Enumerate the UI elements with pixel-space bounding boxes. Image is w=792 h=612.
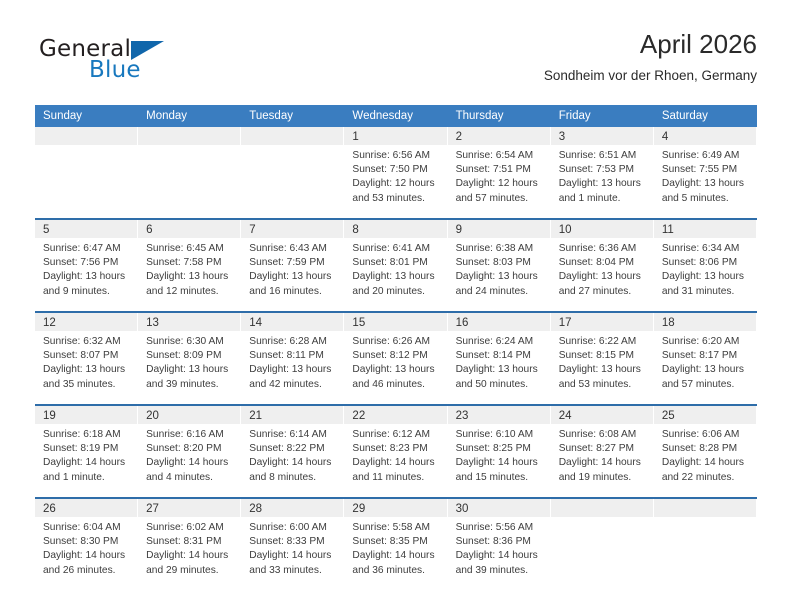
daylight-text-line1: Daylight: 13 hours: [352, 363, 440, 377]
weekday-header-tuesday: Tuesday: [241, 105, 344, 127]
day-number-band: 24: [551, 406, 653, 424]
day-number-band: 28: [241, 499, 343, 517]
sunrise-text: Sunrise: 6:45 AM: [146, 242, 234, 256]
calendar-grid: Sunday Monday Tuesday Wednesday Thursday…: [35, 105, 757, 590]
daylight-text-line2: and 50 minutes.: [456, 378, 544, 392]
day-sun-info: Sunrise: 6:14 AMSunset: 8:22 PMDaylight:…: [241, 424, 343, 485]
sunrise-text: Sunrise: 6:43 AM: [249, 242, 337, 256]
daylight-text-line2: and 20 minutes.: [352, 285, 440, 299]
day-sun-info: Sunrise: 6:04 AMSunset: 8:30 PMDaylight:…: [35, 517, 137, 578]
daylight-text-line2: and 36 minutes.: [352, 564, 440, 578]
day-sun-info: Sunrise: 6:08 AMSunset: 8:27 PMDaylight:…: [551, 424, 653, 485]
day-number-band: 23: [448, 406, 550, 424]
calendar-day-cell[interactable]: 27Sunrise: 6:02 AMSunset: 8:31 PMDayligh…: [138, 499, 241, 590]
sunrise-text: Sunrise: 6:56 AM: [352, 149, 440, 163]
day-number: 4: [662, 131, 668, 143]
daylight-text-line2: and 57 minutes.: [662, 378, 750, 392]
daylight-text-line1: Daylight: 12 hours: [456, 177, 544, 191]
day-sun-info: Sunrise: 6:28 AMSunset: 8:11 PMDaylight:…: [241, 331, 343, 392]
sunrise-text: Sunrise: 6:10 AM: [456, 428, 544, 442]
day-number-band: 1: [344, 127, 446, 145]
daylight-text-line1: Daylight: 12 hours: [352, 177, 440, 191]
sunset-text: Sunset: 8:33 PM: [249, 535, 337, 549]
day-number-band: 15: [344, 313, 446, 331]
sunrise-text: Sunrise: 6:04 AM: [43, 521, 131, 535]
day-sun-info: Sunrise: 6:56 AMSunset: 7:50 PMDaylight:…: [344, 145, 446, 206]
daylight-text-line2: and 39 minutes.: [456, 564, 544, 578]
daylight-text-line2: and 57 minutes.: [456, 192, 544, 206]
sunrise-text: Sunrise: 5:58 AM: [352, 521, 440, 535]
calendar-day-cell[interactable]: 2Sunrise: 6:54 AMSunset: 7:51 PMDaylight…: [448, 127, 551, 218]
day-sun-info: Sunrise: 6:24 AMSunset: 8:14 PMDaylight:…: [448, 331, 550, 392]
sunset-text: Sunset: 8:35 PM: [352, 535, 440, 549]
daylight-text-line1: Daylight: 14 hours: [249, 456, 337, 470]
daylight-text-line2: and 22 minutes.: [662, 471, 750, 485]
day-number: 17: [559, 317, 572, 329]
daylight-text-line2: and 33 minutes.: [249, 564, 337, 578]
day-number: 12: [43, 317, 56, 329]
day-sun-info: Sunrise: 6:43 AMSunset: 7:59 PMDaylight:…: [241, 238, 343, 299]
calendar-week-row: 19Sunrise: 6:18 AMSunset: 8:19 PMDayligh…: [35, 406, 757, 499]
day-sun-info: Sunrise: 6:47 AMSunset: 7:56 PMDaylight:…: [35, 238, 137, 299]
day-number: 30: [456, 503, 469, 515]
weekday-header-row: Sunday Monday Tuesday Wednesday Thursday…: [35, 105, 757, 127]
day-sun-info: Sunrise: 6:30 AMSunset: 8:09 PMDaylight:…: [138, 331, 240, 392]
logo-text-blue: Blue: [89, 57, 141, 83]
day-sun-info: Sunrise: 6:51 AMSunset: 7:53 PMDaylight:…: [551, 145, 653, 206]
sunset-text: Sunset: 8:12 PM: [352, 349, 440, 363]
daylight-text-line2: and 16 minutes.: [249, 285, 337, 299]
calendar-day-cell[interactable]: 18Sunrise: 6:20 AMSunset: 8:17 PMDayligh…: [654, 313, 757, 404]
calendar-day-cell-empty: [241, 127, 344, 218]
calendar-day-cell-empty: [654, 499, 757, 590]
day-number-band: 9: [448, 220, 550, 238]
sunset-text: Sunset: 7:51 PM: [456, 163, 544, 177]
sunset-text: Sunset: 7:53 PM: [559, 163, 647, 177]
calendar-week-row: 5Sunrise: 6:47 AMSunset: 7:56 PMDaylight…: [35, 220, 757, 313]
calendar-week-row: 26Sunrise: 6:04 AMSunset: 8:30 PMDayligh…: [35, 499, 757, 590]
sunrise-text: Sunrise: 6:22 AM: [559, 335, 647, 349]
daylight-text-line1: Daylight: 13 hours: [146, 270, 234, 284]
day-number-band: 20: [138, 406, 240, 424]
title-block: April 2026 Sondheim vor der Rhoen, Germa…: [544, 28, 757, 84]
day-sun-info: Sunrise: 6:10 AMSunset: 8:25 PMDaylight:…: [448, 424, 550, 485]
sunset-text: Sunset: 8:27 PM: [559, 442, 647, 456]
day-number: 2: [456, 131, 462, 143]
daylight-text-line1: Daylight: 14 hours: [43, 456, 131, 470]
sunset-text: Sunset: 8:06 PM: [662, 256, 750, 270]
sunset-text: Sunset: 7:59 PM: [249, 256, 337, 270]
sunrise-text: Sunrise: 6:51 AM: [559, 149, 647, 163]
sunset-text: Sunset: 8:28 PM: [662, 442, 750, 456]
sunrise-text: Sunrise: 6:38 AM: [456, 242, 544, 256]
daylight-text-line1: Daylight: 13 hours: [43, 270, 131, 284]
daylight-text-line2: and 42 minutes.: [249, 378, 337, 392]
day-number-band: [654, 499, 756, 517]
calendar-day-cell[interactable]: 12Sunrise: 6:32 AMSunset: 8:07 PMDayligh…: [35, 313, 138, 404]
day-number-band: 12: [35, 313, 137, 331]
day-number: 10: [559, 224, 572, 236]
day-number-band: 25: [654, 406, 756, 424]
daylight-text-line2: and 4 minutes.: [146, 471, 234, 485]
daylight-text-line1: Daylight: 13 hours: [559, 363, 647, 377]
sunrise-text: Sunrise: 6:34 AM: [662, 242, 750, 256]
daylight-text-line2: and 53 minutes.: [559, 378, 647, 392]
sunset-text: Sunset: 7:50 PM: [352, 163, 440, 177]
day-number-band: 3: [551, 127, 653, 145]
day-number: 15: [352, 317, 365, 329]
calendar-week-row: 1Sunrise: 6:56 AMSunset: 7:50 PMDaylight…: [35, 127, 757, 220]
day-number: 7: [249, 224, 255, 236]
weekday-header-saturday: Saturday: [654, 105, 757, 127]
sunset-text: Sunset: 7:56 PM: [43, 256, 131, 270]
sunrise-text: Sunrise: 6:08 AM: [559, 428, 647, 442]
calendar-day-cell[interactable]: 28Sunrise: 6:00 AMSunset: 8:33 PMDayligh…: [241, 499, 344, 590]
daylight-text-line2: and 27 minutes.: [559, 285, 647, 299]
day-sun-info: Sunrise: 6:49 AMSunset: 7:55 PMDaylight:…: [654, 145, 756, 206]
daylight-text-line2: and 26 minutes.: [43, 564, 131, 578]
daylight-text-line2: and 8 minutes.: [249, 471, 337, 485]
day-number: 9: [456, 224, 462, 236]
sunset-text: Sunset: 7:55 PM: [662, 163, 750, 177]
day-sun-info: Sunrise: 6:32 AMSunset: 8:07 PMDaylight:…: [35, 331, 137, 392]
daylight-text-line2: and 31 minutes.: [662, 285, 750, 299]
day-number-band: 10: [551, 220, 653, 238]
day-number: 19: [43, 410, 56, 422]
sunrise-text: Sunrise: 6:30 AM: [146, 335, 234, 349]
day-sun-info: Sunrise: 6:12 AMSunset: 8:23 PMDaylight:…: [344, 424, 446, 485]
day-sun-info: Sunrise: 5:58 AMSunset: 8:35 PMDaylight:…: [344, 517, 446, 578]
calendar-day-cell[interactable]: 7Sunrise: 6:43 AMSunset: 7:59 PMDaylight…: [241, 220, 344, 311]
sunrise-text: Sunrise: 5:56 AM: [456, 521, 544, 535]
calendar-day-cell[interactable]: 30Sunrise: 5:56 AMSunset: 8:36 PMDayligh…: [448, 499, 551, 590]
calendar-day-cell[interactable]: 24Sunrise: 6:08 AMSunset: 8:27 PMDayligh…: [551, 406, 654, 497]
daylight-text-line1: Daylight: 13 hours: [249, 363, 337, 377]
sunset-text: Sunset: 8:15 PM: [559, 349, 647, 363]
general-blue-logo[interactable]: General Blue: [35, 28, 245, 90]
day-number-band: [35, 127, 137, 145]
calendar-day-cell[interactable]: 20Sunrise: 6:16 AMSunset: 8:20 PMDayligh…: [138, 406, 241, 497]
day-number-band: [138, 127, 240, 145]
daylight-text-line2: and 46 minutes.: [352, 378, 440, 392]
page-header: General Blue April 2026 Sondheim vor der…: [35, 28, 757, 98]
day-number: 28: [249, 503, 262, 515]
daylight-text-line2: and 15 minutes.: [456, 471, 544, 485]
sunrise-text: Sunrise: 6:00 AM: [249, 521, 337, 535]
day-sun-info: Sunrise: 6:02 AMSunset: 8:31 PMDaylight:…: [138, 517, 240, 578]
day-number: 29: [352, 503, 365, 515]
sunrise-text: Sunrise: 6:20 AM: [662, 335, 750, 349]
calendar-day-cell[interactable]: 29Sunrise: 5:58 AMSunset: 8:35 PMDayligh…: [344, 499, 447, 590]
calendar-day-cell[interactable]: 23Sunrise: 6:10 AMSunset: 8:25 PMDayligh…: [448, 406, 551, 497]
day-number-band: 6: [138, 220, 240, 238]
day-sun-info: Sunrise: 6:26 AMSunset: 8:12 PMDaylight:…: [344, 331, 446, 392]
daylight-text-line2: and 9 minutes.: [43, 285, 131, 299]
sunrise-text: Sunrise: 6:24 AM: [456, 335, 544, 349]
daylight-text-line1: Daylight: 13 hours: [662, 177, 750, 191]
sunset-text: Sunset: 8:30 PM: [43, 535, 131, 549]
daylight-text-line1: Daylight: 13 hours: [662, 363, 750, 377]
sunset-text: Sunset: 8:17 PM: [662, 349, 750, 363]
day-number-band: 30: [448, 499, 550, 517]
calendar-day-cell[interactable]: 17Sunrise: 6:22 AMSunset: 8:15 PMDayligh…: [551, 313, 654, 404]
calendar-day-cell-empty: [35, 127, 138, 218]
daylight-text-line2: and 24 minutes.: [456, 285, 544, 299]
day-sun-info: Sunrise: 6:06 AMSunset: 8:28 PMDaylight:…: [654, 424, 756, 485]
daylight-text-line2: and 19 minutes.: [559, 471, 647, 485]
day-number: 22: [352, 410, 365, 422]
daylight-text-line1: Daylight: 13 hours: [146, 363, 234, 377]
daylight-text-line2: and 35 minutes.: [43, 378, 131, 392]
day-sun-info: Sunrise: 6:22 AMSunset: 8:15 PMDaylight:…: [551, 331, 653, 392]
sunset-text: Sunset: 7:58 PM: [146, 256, 234, 270]
sunset-text: Sunset: 8:11 PM: [249, 349, 337, 363]
calendar-day-cell[interactable]: 5Sunrise: 6:47 AMSunset: 7:56 PMDaylight…: [35, 220, 138, 311]
sunset-text: Sunset: 8:04 PM: [559, 256, 647, 270]
day-number-band: 11: [654, 220, 756, 238]
sunrise-text: Sunrise: 6:47 AM: [43, 242, 131, 256]
calendar-week-row: 12Sunrise: 6:32 AMSunset: 8:07 PMDayligh…: [35, 313, 757, 406]
daylight-text-line1: Daylight: 14 hours: [456, 549, 544, 563]
calendar-day-cell[interactable]: 9Sunrise: 6:38 AMSunset: 8:03 PMDaylight…: [448, 220, 551, 311]
day-sun-info: Sunrise: 6:00 AMSunset: 8:33 PMDaylight:…: [241, 517, 343, 578]
day-number: 25: [662, 410, 675, 422]
sunset-text: Sunset: 8:03 PM: [456, 256, 544, 270]
day-sun-info: Sunrise: 6:16 AMSunset: 8:20 PMDaylight:…: [138, 424, 240, 485]
daylight-text-line1: Daylight: 14 hours: [43, 549, 131, 563]
sunrise-text: Sunrise: 6:36 AM: [559, 242, 647, 256]
weekday-header-sunday: Sunday: [35, 105, 138, 127]
weekday-header-thursday: Thursday: [448, 105, 551, 127]
daylight-text-line2: and 39 minutes.: [146, 378, 234, 392]
day-number-band: 19: [35, 406, 137, 424]
calendar-day-cell[interactable]: 13Sunrise: 6:30 AMSunset: 8:09 PMDayligh…: [138, 313, 241, 404]
day-number-band: 26: [35, 499, 137, 517]
calendar-day-cell[interactable]: 1Sunrise: 6:56 AMSunset: 7:50 PMDaylight…: [344, 127, 447, 218]
daylight-text-line1: Daylight: 14 hours: [249, 549, 337, 563]
day-number: 26: [43, 503, 56, 515]
daylight-text-line1: Daylight: 13 hours: [43, 363, 131, 377]
day-sun-info: Sunrise: 6:36 AMSunset: 8:04 PMDaylight:…: [551, 238, 653, 299]
day-number: 27: [146, 503, 159, 515]
calendar-day-cell[interactable]: 25Sunrise: 6:06 AMSunset: 8:28 PMDayligh…: [654, 406, 757, 497]
sunset-text: Sunset: 8:25 PM: [456, 442, 544, 456]
sunset-text: Sunset: 8:19 PM: [43, 442, 131, 456]
calendar-day-cell[interactable]: 3Sunrise: 6:51 AMSunset: 7:53 PMDaylight…: [551, 127, 654, 218]
day-number-band: 5: [35, 220, 137, 238]
daylight-text-line2: and 29 minutes.: [146, 564, 234, 578]
day-number: 18: [662, 317, 675, 329]
calendar-day-cell-empty: [138, 127, 241, 218]
calendar-weeks: 1Sunrise: 6:56 AMSunset: 7:50 PMDaylight…: [35, 127, 757, 590]
daylight-text-line2: and 53 minutes.: [352, 192, 440, 206]
page-title: April 2026: [544, 28, 757, 60]
weekday-header-friday: Friday: [551, 105, 654, 127]
calendar-day-cell[interactable]: 19Sunrise: 6:18 AMSunset: 8:19 PMDayligh…: [35, 406, 138, 497]
calendar-day-cell[interactable]: 11Sunrise: 6:34 AMSunset: 8:06 PMDayligh…: [654, 220, 757, 311]
day-number: 14: [249, 317, 262, 329]
weekday-header-wednesday: Wednesday: [344, 105, 447, 127]
daylight-text-line1: Daylight: 14 hours: [352, 456, 440, 470]
calendar-day-cell[interactable]: 4Sunrise: 6:49 AMSunset: 7:55 PMDaylight…: [654, 127, 757, 218]
day-number-band: 14: [241, 313, 343, 331]
day-number: 8: [352, 224, 358, 236]
daylight-text-line1: Daylight: 13 hours: [662, 270, 750, 284]
day-number-band: 18: [654, 313, 756, 331]
calendar-day-cell[interactable]: 21Sunrise: 6:14 AMSunset: 8:22 PMDayligh…: [241, 406, 344, 497]
sunrise-text: Sunrise: 6:32 AM: [43, 335, 131, 349]
day-sun-info: Sunrise: 6:38 AMSunset: 8:03 PMDaylight:…: [448, 238, 550, 299]
day-number: 1: [352, 131, 358, 143]
weekday-header-monday: Monday: [138, 105, 241, 127]
sunrise-text: Sunrise: 6:02 AM: [146, 521, 234, 535]
daylight-text-line1: Daylight: 14 hours: [146, 456, 234, 470]
sunset-text: Sunset: 8:23 PM: [352, 442, 440, 456]
sunset-text: Sunset: 8:09 PM: [146, 349, 234, 363]
sunset-text: Sunset: 8:07 PM: [43, 349, 131, 363]
daylight-text-line1: Daylight: 14 hours: [352, 549, 440, 563]
day-number: 6: [146, 224, 152, 236]
day-number-band: 22: [344, 406, 446, 424]
sunset-text: Sunset: 8:20 PM: [146, 442, 234, 456]
location-subtitle: Sondheim vor der Rhoen, Germany: [544, 68, 757, 84]
day-number-band: 7: [241, 220, 343, 238]
sunset-text: Sunset: 8:22 PM: [249, 442, 337, 456]
day-number: 13: [146, 317, 159, 329]
calendar-page: General Blue April 2026 Sondheim vor der…: [0, 0, 792, 612]
day-number-band: [551, 499, 653, 517]
day-number-band: 27: [138, 499, 240, 517]
calendar-day-cell[interactable]: 10Sunrise: 6:36 AMSunset: 8:04 PMDayligh…: [551, 220, 654, 311]
calendar-day-cell[interactable]: 6Sunrise: 6:45 AMSunset: 7:58 PMDaylight…: [138, 220, 241, 311]
sunset-text: Sunset: 8:31 PM: [146, 535, 234, 549]
calendar-day-cell[interactable]: 14Sunrise: 6:28 AMSunset: 8:11 PMDayligh…: [241, 313, 344, 404]
sunset-text: Sunset: 8:01 PM: [352, 256, 440, 270]
day-number: 23: [456, 410, 469, 422]
day-number-band: 21: [241, 406, 343, 424]
day-number-band: 17: [551, 313, 653, 331]
day-number: 5: [43, 224, 49, 236]
day-sun-info: Sunrise: 6:54 AMSunset: 7:51 PMDaylight:…: [448, 145, 550, 206]
sunrise-text: Sunrise: 6:12 AM: [352, 428, 440, 442]
day-number: 3: [559, 131, 565, 143]
calendar-day-cell[interactable]: 16Sunrise: 6:24 AMSunset: 8:14 PMDayligh…: [448, 313, 551, 404]
sunrise-text: Sunrise: 6:41 AM: [352, 242, 440, 256]
daylight-text-line2: and 11 minutes.: [352, 471, 440, 485]
daylight-text-line1: Daylight: 13 hours: [559, 270, 647, 284]
sunrise-text: Sunrise: 6:49 AM: [662, 149, 750, 163]
day-number: 21: [249, 410, 262, 422]
day-sun-info: Sunrise: 6:20 AMSunset: 8:17 PMDaylight:…: [654, 331, 756, 392]
sunrise-text: Sunrise: 6:06 AM: [662, 428, 750, 442]
daylight-text-line2: and 1 minute.: [559, 192, 647, 206]
calendar-day-cell[interactable]: 26Sunrise: 6:04 AMSunset: 8:30 PMDayligh…: [35, 499, 138, 590]
daylight-text-line1: Daylight: 14 hours: [662, 456, 750, 470]
daylight-text-line1: Daylight: 14 hours: [559, 456, 647, 470]
day-number-band: 16: [448, 313, 550, 331]
day-number: 11: [662, 224, 674, 236]
day-number-band: 29: [344, 499, 446, 517]
sunrise-text: Sunrise: 6:18 AM: [43, 428, 131, 442]
daylight-text-line1: Daylight: 13 hours: [456, 270, 544, 284]
daylight-text-line1: Daylight: 13 hours: [559, 177, 647, 191]
day-number: 16: [456, 317, 469, 329]
daylight-text-line1: Daylight: 13 hours: [456, 363, 544, 377]
sunrise-text: Sunrise: 6:16 AM: [146, 428, 234, 442]
daylight-text-line2: and 12 minutes.: [146, 285, 234, 299]
daylight-text-line1: Daylight: 13 hours: [352, 270, 440, 284]
sunrise-text: Sunrise: 6:26 AM: [352, 335, 440, 349]
daylight-text-line2: and 5 minutes.: [662, 192, 750, 206]
daylight-text-line1: Daylight: 13 hours: [249, 270, 337, 284]
day-sun-info: Sunrise: 6:34 AMSunset: 8:06 PMDaylight:…: [654, 238, 756, 299]
calendar-day-cell[interactable]: 22Sunrise: 6:12 AMSunset: 8:23 PMDayligh…: [344, 406, 447, 497]
calendar-day-cell[interactable]: 8Sunrise: 6:41 AMSunset: 8:01 PMDaylight…: [344, 220, 447, 311]
sunrise-text: Sunrise: 6:54 AM: [456, 149, 544, 163]
day-number-band: [241, 127, 343, 145]
day-number-band: 13: [138, 313, 240, 331]
sunset-text: Sunset: 8:36 PM: [456, 535, 544, 549]
day-number-band: 2: [448, 127, 550, 145]
calendar-day-cell-empty: [551, 499, 654, 590]
daylight-text-line2: and 1 minute.: [43, 471, 131, 485]
daylight-text-line1: Daylight: 14 hours: [146, 549, 234, 563]
day-sun-info: Sunrise: 6:18 AMSunset: 8:19 PMDaylight:…: [35, 424, 137, 485]
day-sun-info: Sunrise: 6:45 AMSunset: 7:58 PMDaylight:…: [138, 238, 240, 299]
sunset-text: Sunset: 8:14 PM: [456, 349, 544, 363]
sunrise-text: Sunrise: 6:28 AM: [249, 335, 337, 349]
day-sun-info: Sunrise: 6:41 AMSunset: 8:01 PMDaylight:…: [344, 238, 446, 299]
day-number-band: 8: [344, 220, 446, 238]
day-number: 20: [146, 410, 159, 422]
day-number: 24: [559, 410, 572, 422]
sunrise-text: Sunrise: 6:14 AM: [249, 428, 337, 442]
day-number-band: 4: [654, 127, 756, 145]
calendar-day-cell[interactable]: 15Sunrise: 6:26 AMSunset: 8:12 PMDayligh…: [344, 313, 447, 404]
daylight-text-line1: Daylight: 14 hours: [456, 456, 544, 470]
day-sun-info: Sunrise: 5:56 AMSunset: 8:36 PMDaylight:…: [448, 517, 550, 578]
